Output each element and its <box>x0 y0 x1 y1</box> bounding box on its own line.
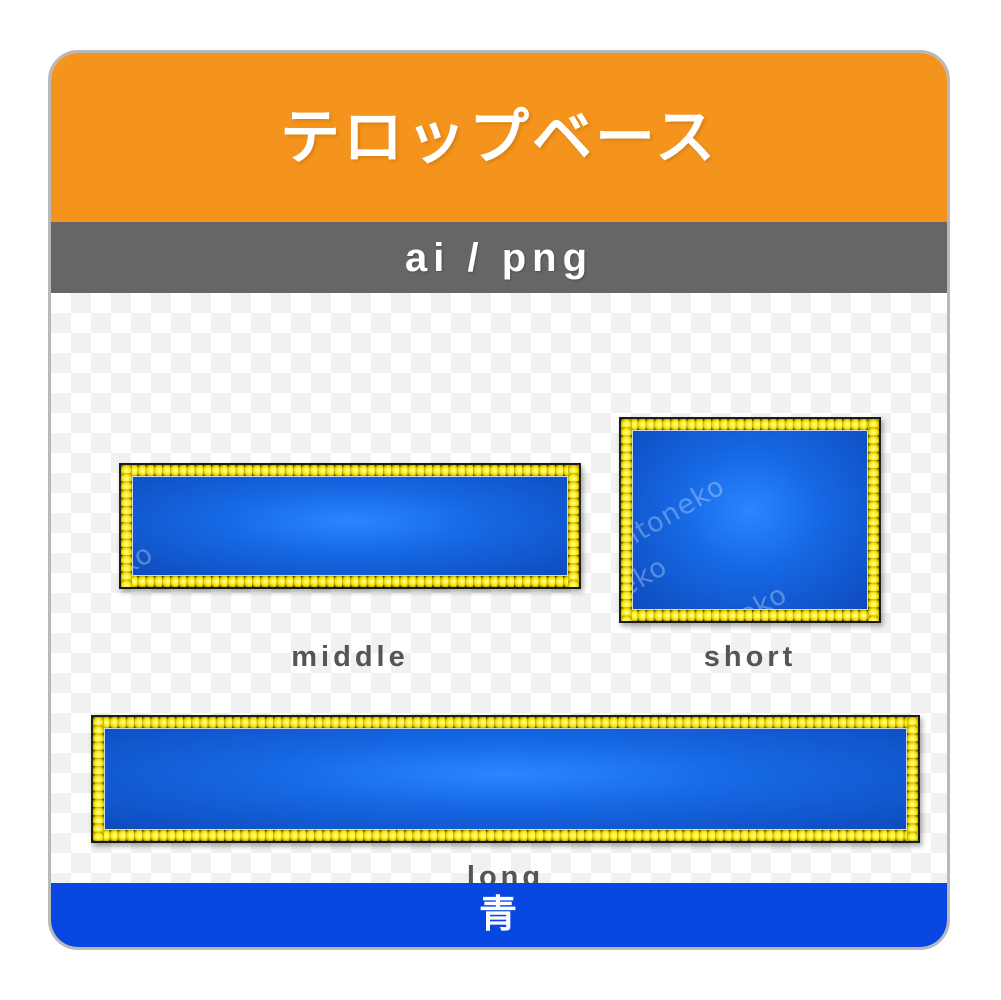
watermark-line: adesigntoneko <box>655 567 868 610</box>
watermark-line: adesigntoneko <box>104 728 907 830</box>
watermark-line: adesigntoneko <box>132 476 568 576</box>
watermark-line: adesigntoneko <box>632 494 868 610</box>
bulb-strip-top <box>621 419 879 430</box>
bulb-strip-top <box>121 465 579 476</box>
watermark-line: adesigntoneko <box>104 728 907 830</box>
banner-short[interactable]: adesigntoneko adesigntoneko adesigntonek… <box>619 417 881 623</box>
card-header: テロップベース <box>51 53 947 222</box>
bulb-strip-bottom <box>93 830 918 841</box>
bulb-strip-bottom <box>121 576 579 587</box>
bulb-strip-bottom <box>621 610 879 621</box>
watermark-line: adesigntoneko <box>632 430 868 499</box>
bulb-strip-right <box>568 465 579 587</box>
product-preview-card: テロップベース ai / png adesigntoneko adesignto… <box>48 50 950 950</box>
bulb-strip-right <box>907 717 918 841</box>
bulb-strip-right <box>868 419 879 621</box>
preview-canvas: adesigntoneko adesigntoneko adesigntonek… <box>51 293 947 889</box>
watermark-line: adesigntoneko <box>632 430 868 610</box>
banner-short-screen: adesigntoneko adesigntoneko adesigntonek… <box>632 430 868 610</box>
bulb-strip-left <box>93 717 104 841</box>
watermark-line: adesigntoneko <box>104 728 907 830</box>
watermark-line: adesigntoneko <box>104 728 907 830</box>
watermark-line: adesigntoneko <box>632 430 868 608</box>
card-footer: 青 <box>51 883 947 947</box>
watermark-line: adesigntoneko <box>132 476 568 576</box>
page-title: テロップベース <box>280 108 718 168</box>
banner-caption-middle: middle <box>119 643 581 672</box>
watermark-line: adesigntoneko <box>632 430 868 580</box>
bulb-strip-left <box>621 419 632 621</box>
watermark-overlay: adesigntoneko adesigntoneko adesigntonek… <box>104 728 907 830</box>
banner-middle-screen: adesigntoneko adesigntoneko adesigntonek… <box>132 476 568 576</box>
bulb-strip-left <box>121 465 132 587</box>
banner-middle[interactable]: adesigntoneko adesigntoneko adesigntonek… <box>119 463 581 589</box>
watermark-line: adesigntoneko <box>104 728 907 830</box>
watermark-overlay: adesigntoneko adesigntoneko adesigntonek… <box>132 476 568 576</box>
watermark-line: adesigntoneko <box>632 430 868 610</box>
watermark-line: adesigntoneko <box>132 476 568 576</box>
banner-long-screen: adesigntoneko adesigntoneko adesigntonek… <box>104 728 907 830</box>
color-variant-label: 青 <box>479 896 519 934</box>
watermark-line: adesigntoneko <box>104 728 907 830</box>
watermark-line: adesigntoneko <box>132 476 568 576</box>
watermark-line: adesigntoneko <box>132 481 568 576</box>
watermark-overlay: adesigntoneko adesigntoneko adesigntonek… <box>632 430 868 610</box>
file-format-band: ai / png <box>51 222 947 293</box>
watermark-line: adesigntoneko <box>632 430 868 610</box>
banner-long[interactable]: adesigntoneko adesigntoneko adesigntonek… <box>91 715 920 843</box>
watermark-line: adesigntoneko <box>632 458 868 610</box>
watermark-line: adesigntoneko <box>104 728 907 830</box>
watermark-line: adesigntoneko <box>104 728 907 830</box>
watermark-line: adesigntoneko <box>632 530 868 610</box>
file-format-label: ai / png <box>405 238 593 278</box>
bulb-strip-top <box>93 717 918 728</box>
banner-caption-short: short <box>619 643 881 672</box>
watermark-line: adesigntoneko <box>132 476 568 576</box>
watermark-line: adesigntoneko <box>132 476 568 576</box>
watermark-line: adesigntoneko <box>132 476 568 576</box>
